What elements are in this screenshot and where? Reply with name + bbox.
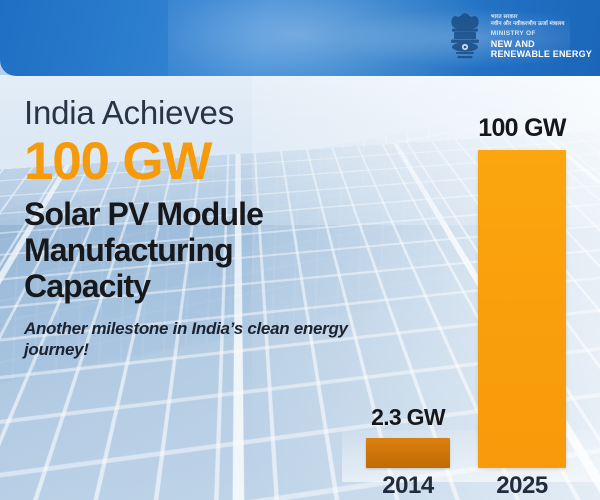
logo-hindi-line-1: भारत सरकार <box>491 14 592 20</box>
headline-title-line-2: Manufacturing <box>24 232 374 268</box>
bar-value-label-2014: 2.3 GW <box>371 404 445 431</box>
headline-block: India Achieves 100 GW Solar PV Module Ma… <box>24 96 374 361</box>
logo-renewable-energy-label: RENEWABLE ENERGY <box>491 49 592 59</box>
bar-group-2025: 100 GW <box>478 114 566 468</box>
bar-value-label-2025: 100 GW <box>478 114 566 143</box>
bar-chart: 2.3 GW 100 GW 2014 2025 <box>352 96 588 500</box>
headline-title-line-3: Capacity <box>24 268 374 304</box>
headline-figure: 100 GW <box>24 135 374 188</box>
logo-new-and-label: NEW AND <box>491 39 592 49</box>
bar-group-2014: 2.3 GW <box>366 404 450 468</box>
logo-ministry-of-label: MINISTRY OF <box>491 30 592 37</box>
headline-subtitle: Another milestone in India’s clean energ… <box>24 319 374 360</box>
bar-2014 <box>366 438 450 468</box>
bar-2025 <box>478 150 566 468</box>
ministry-logo-text: भारत सरकार नवीन और नवीकरणीय ऊर्जा मंत्रा… <box>491 12 592 59</box>
headline-eyebrow: India Achieves <box>24 96 374 129</box>
ashoka-lion-capital-emblem <box>446 12 484 64</box>
infographic-canvas: भारत सरकार नवीन और नवीकरणीय ऊर्जा मंत्रा… <box>0 0 600 500</box>
axis-label-2025: 2025 <box>478 472 566 500</box>
ministry-logo: भारत सरकार नवीन और नवीकरणीय ऊर्जा मंत्रा… <box>446 12 592 64</box>
headline-title-line-1: Solar PV Module <box>24 196 374 232</box>
logo-hindi-line-2: नवीन और नवीकरणीय ऊर्जा मंत्रालय <box>491 21 592 27</box>
axis-label-2014: 2014 <box>366 472 450 500</box>
